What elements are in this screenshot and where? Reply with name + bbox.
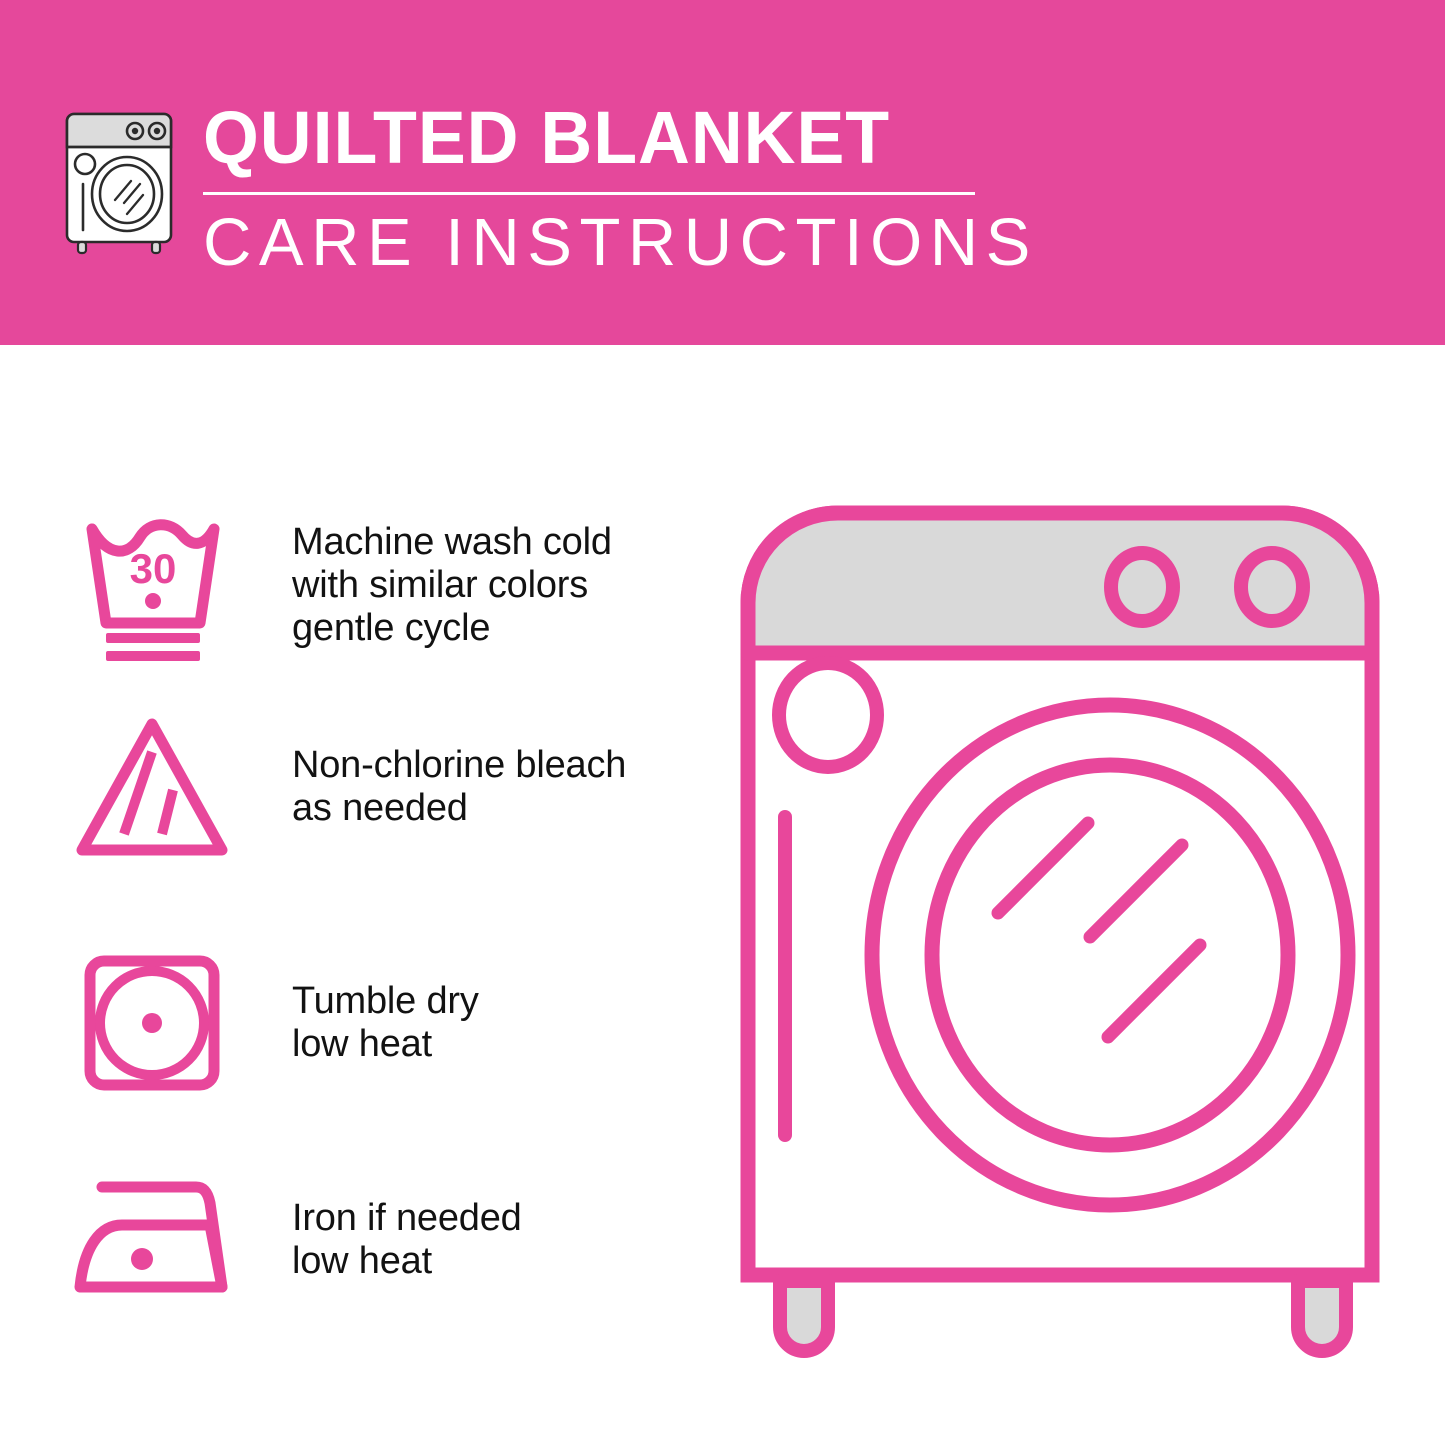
care-symbol-list: 30 Machine wash cold with similar colors… xyxy=(0,345,700,1445)
care-label: Tumble dry low heat xyxy=(292,980,479,1066)
front-load-washing-machine-illustration xyxy=(710,475,1410,1365)
washing-machine-icon xyxy=(58,102,188,254)
header-banner: QUILTED BLANKET CARE INSTRUCTIONS xyxy=(0,0,1445,345)
care-label: Non-chlorine bleach as needed xyxy=(292,744,626,830)
wash-tub-30-gentle-icon: 30 xyxy=(60,505,245,665)
care-row: Non-chlorine bleach as needed xyxy=(0,697,700,877)
title-divider xyxy=(203,192,975,195)
page-subtitle: CARE INSTRUCTIONS xyxy=(203,207,993,279)
svg-text:30: 30 xyxy=(129,545,176,592)
care-row: 30 Machine wash cold with similar colors… xyxy=(0,495,700,675)
care-instructions-page: QUILTED BLANKET CARE INSTRUCTIONS 30 xyxy=(0,0,1445,1445)
non-chlorine-bleach-triangle-icon xyxy=(60,712,245,862)
iron-low-heat-icon xyxy=(60,1175,245,1305)
tumble-dry-low-icon xyxy=(60,953,245,1093)
care-row: Iron if needed low heat xyxy=(0,1150,700,1330)
header-text-block: QUILTED BLANKET CARE INSTRUCTIONS xyxy=(203,98,993,279)
care-label: Machine wash cold with similar colors ge… xyxy=(292,521,612,650)
page-title: QUILTED BLANKET xyxy=(203,98,969,178)
care-row: Tumble dry low heat xyxy=(0,933,700,1113)
care-label: Iron if needed low heat xyxy=(292,1197,522,1283)
